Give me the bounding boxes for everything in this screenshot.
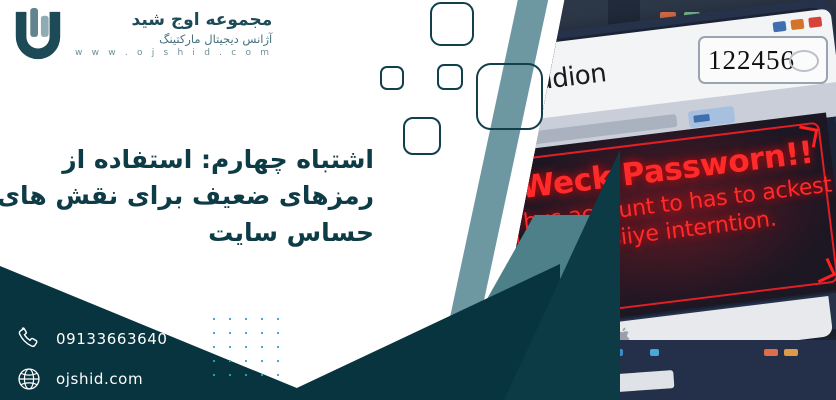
promo-banner: addion 122456 Weck Passworn!! [0, 0, 836, 400]
contact-phone-row[interactable]: 09133663640 [16, 326, 168, 352]
decor-square-4 [380, 66, 404, 90]
contact-website-url: ojshid.com [56, 370, 143, 388]
eye-toggle-icon[interactable] [789, 50, 819, 72]
decor-square-1 [430, 2, 474, 46]
globe-icon [16, 366, 42, 392]
brand-name: مجموعه اوج شید [75, 11, 272, 30]
minimize-button[interactable] [772, 21, 786, 33]
brand-website: w w w . o j s h i d . c o m [75, 48, 272, 58]
brand-logo[interactable]: مجموعه اوج شید آژانس دیجیتال مارکتینگ w … [10, 6, 272, 64]
contact-phone-number: 09133663640 [56, 330, 168, 348]
close-button[interactable] [808, 16, 822, 28]
contact-website-row[interactable]: ojshid.com [16, 366, 168, 392]
desk-light-6 [784, 349, 798, 356]
desk-light-4 [650, 349, 659, 356]
phone-icon [16, 326, 42, 352]
maximize-button[interactable] [790, 19, 804, 31]
contact-block: 09133663640 ojshid.com [16, 326, 168, 400]
dot-grid-pattern [206, 312, 288, 384]
password-value: 122456 [700, 45, 795, 76]
brand-tagline: آژانس دیجیتال مارکتینگ [75, 33, 272, 46]
window-controls[interactable] [772, 16, 822, 32]
chip-bar-icon [693, 114, 710, 123]
headline: اشتباه چهارم: استفاده از رمزهای ضعیف برا… [0, 142, 374, 251]
brand-logo-text: مجموعه اوج شید آژانس دیجیتال مارکتینگ w … [75, 6, 272, 58]
decor-square-5 [403, 117, 441, 155]
decor-square-2 [437, 64, 463, 90]
decor-square-3 [476, 63, 543, 130]
ojshid-u-logo-icon [10, 6, 66, 64]
password-field[interactable]: 122456 [698, 36, 828, 84]
desk-light-5 [764, 349, 778, 356]
